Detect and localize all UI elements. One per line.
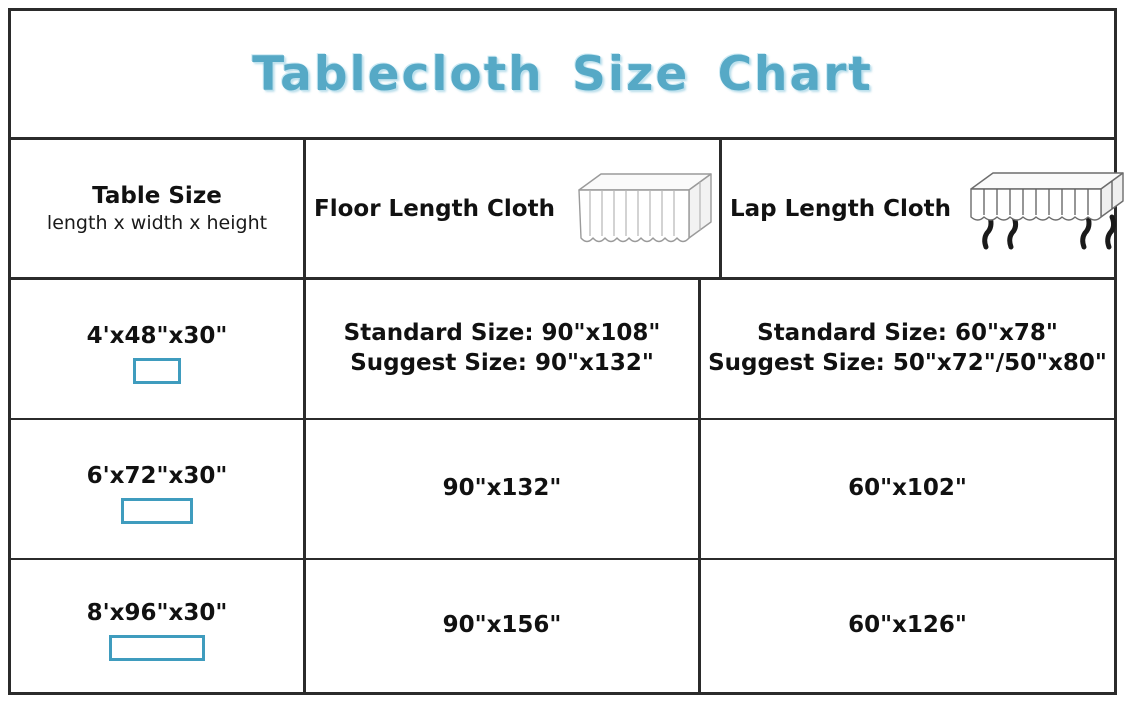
cell-table-size: 6'x72"x30" xyxy=(11,420,306,558)
table-size-group: 8'x96"x30" xyxy=(87,600,228,661)
cell-lap-length: Standard Size: 60"x78" Suggest Size: 50"… xyxy=(701,280,1114,418)
table-size-title: Table Size xyxy=(47,183,267,210)
cell-floor-length: 90"x156" xyxy=(306,560,701,692)
header-cell-floor-length: Floor Length Cloth xyxy=(306,140,722,277)
table-size-heading: Table Size length x width x height xyxy=(47,183,267,235)
table-shape-swatch xyxy=(133,358,181,384)
floor-length-table-icon xyxy=(561,166,719,252)
table-size-value: 4'x48"x30" xyxy=(87,323,228,349)
floor-length-standard: 90"x156" xyxy=(443,611,562,641)
floor-length-suggest: Suggest Size: 90"x132" xyxy=(344,349,661,379)
lap-length-table-icon xyxy=(957,159,1125,259)
header-cell-table-size: Table Size length x width x height xyxy=(11,140,306,277)
lap-length-standard: 60"x102" xyxy=(848,474,967,504)
cell-lap-length: 60"x126" xyxy=(701,560,1114,692)
table-shape-swatch xyxy=(109,635,205,661)
header-cell-lap-length: Lap Length Cloth xyxy=(722,140,1125,277)
lap-length-suggest: Suggest Size: 50"x72"/50"x80" xyxy=(708,349,1107,379)
lap-length-standard: 60"x126" xyxy=(848,611,967,641)
cell-floor-length: 90"x132" xyxy=(306,420,701,558)
floor-length-value: 90"x132" xyxy=(443,474,562,504)
floor-length-value: Standard Size: 90"x108" Suggest Size: 90… xyxy=(344,319,661,379)
page-title: Tablecloth Size Chart xyxy=(252,47,873,102)
table-size-value: 6'x72"x30" xyxy=(87,463,228,489)
floor-length-title: Floor Length Cloth xyxy=(314,196,555,222)
lap-length-standard: Standard Size: 60"x78" xyxy=(708,319,1107,349)
table-size-group: 4'x48"x30" xyxy=(87,323,228,384)
lap-length-value: 60"x126" xyxy=(848,611,967,641)
cell-lap-length: 60"x102" xyxy=(701,420,1114,558)
floor-length-value: 90"x156" xyxy=(443,611,562,641)
lap-length-value: 60"x102" xyxy=(848,474,967,504)
table-row: 8'x96"x30" 90"x156" 60"x126" xyxy=(11,560,1114,692)
lap-length-title: Lap Length Cloth xyxy=(730,196,951,222)
cell-table-size: 4'x48"x30" xyxy=(11,280,306,418)
lap-length-value: Standard Size: 60"x78" Suggest Size: 50"… xyxy=(708,319,1107,379)
cell-table-size: 8'x96"x30" xyxy=(11,560,306,692)
size-chart-table: Tablecloth Size Chart Table Size length … xyxy=(8,8,1117,695)
table-size-value: 8'x96"x30" xyxy=(87,600,228,626)
table-size-subtitle: length x width x height xyxy=(47,212,267,234)
table-size-group: 6'x72"x30" xyxy=(87,463,228,524)
floor-length-standard: 90"x132" xyxy=(443,474,562,504)
table-row: 4'x48"x30" Standard Size: 90"x108" Sugge… xyxy=(11,280,1114,420)
tablecloth-size-chart-page: Tablecloth Size Chart Table Size length … xyxy=(0,0,1125,701)
table-row: 6'x72"x30" 90"x132" 60"x102" xyxy=(11,420,1114,560)
floor-length-standard: Standard Size: 90"x108" xyxy=(344,319,661,349)
table-header-row: Table Size length x width x height Floor… xyxy=(11,140,1114,280)
chart-title-row: Tablecloth Size Chart xyxy=(11,11,1114,140)
table-shape-swatch xyxy=(121,498,193,524)
cell-floor-length: Standard Size: 90"x108" Suggest Size: 90… xyxy=(306,280,701,418)
